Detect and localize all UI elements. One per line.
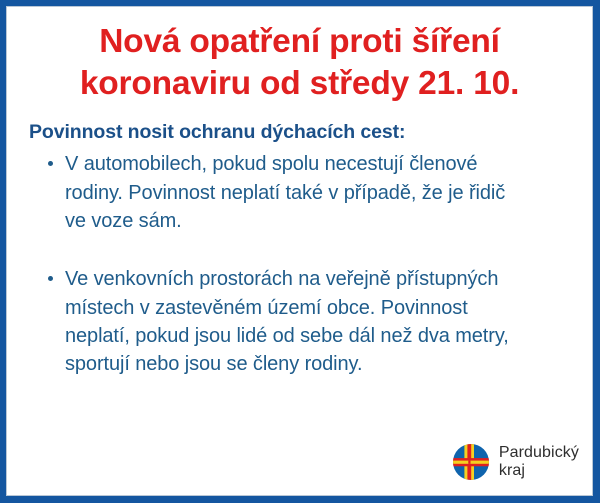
logo-text: Pardubický kraj (499, 444, 579, 480)
list-item: Ve venkovních prostorách na veřejně přís… (7, 265, 592, 379)
poster-frame: Nová opatření proti šíření koronaviru od… (0, 0, 600, 503)
bullet-2-line-3: neplatí, pokud jsou lidé od sebe dál než… (65, 322, 572, 350)
bullet-dot-icon (48, 161, 53, 166)
title-line-1: Nová opatření proti šíření (31, 21, 568, 63)
bullet-2-line-2: místech v zastevěném území obce. Povinno… (65, 294, 572, 322)
logo: Pardubický kraj (452, 443, 579, 481)
poster-inner-frame: Nová opatření proti šíření koronaviru od… (6, 6, 593, 496)
bullet-2-line-4: sportují nebo jsou se členy rodiny. (65, 350, 572, 378)
logo-text-line-1: Pardubický (499, 444, 579, 462)
measures-list: V automobilech, pokud spolu necestují čl… (7, 144, 592, 379)
list-item: V automobilech, pokud spolu necestují čl… (7, 150, 592, 235)
bullet-1-line-2: rodiny. Povinnost neplatí také v případě… (65, 179, 572, 207)
bullet-1-line-3: ve voze sám. (65, 207, 572, 235)
bullet-dot-icon (48, 276, 53, 281)
logo-text-line-2: kraj (499, 462, 579, 480)
bullet-2-line-1: Ve venkovních prostorách na veřejně přís… (65, 265, 572, 293)
page-title: Nová opatření proti šíření koronaviru od… (7, 7, 592, 105)
title-line-2: koronaviru od středy 21. 10. (31, 63, 568, 105)
poster-content: Nová opatření proti šíření koronaviru od… (7, 7, 592, 495)
subheading: Povinnost nosit ochranu dýchacích cest: (7, 105, 592, 144)
bullet-1-line-1: V automobilech, pokud spolu necestují čl… (65, 150, 572, 178)
pardubicky-kraj-logo-icon (452, 443, 490, 481)
